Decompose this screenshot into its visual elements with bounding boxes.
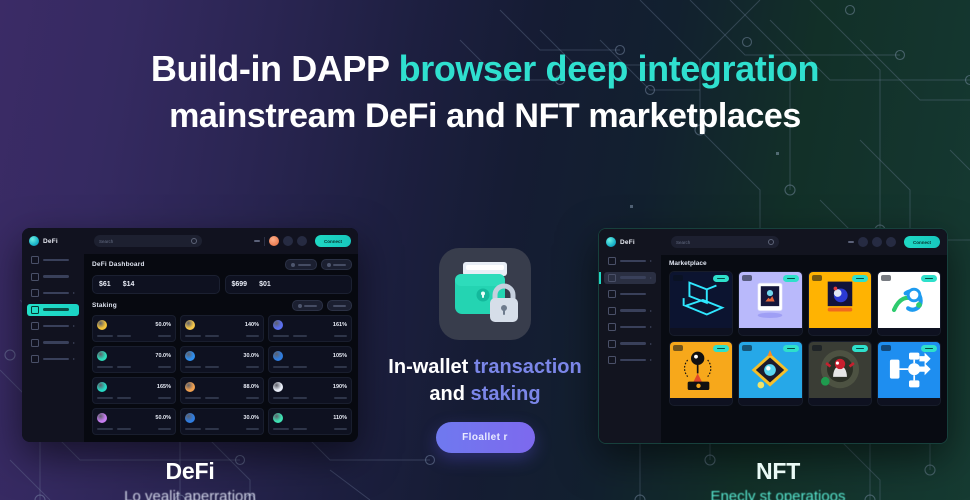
menu-item-icon bbox=[608, 274, 616, 282]
menu-icon[interactable] bbox=[254, 240, 260, 242]
staking-card-meta bbox=[97, 397, 171, 399]
staking-card[interactable]: 70.0% bbox=[92, 346, 176, 373]
bell-icon[interactable] bbox=[858, 237, 868, 247]
nft-artwork bbox=[878, 272, 940, 328]
search-icon bbox=[191, 238, 197, 244]
nft-card[interactable] bbox=[669, 271, 733, 336]
search-icon bbox=[768, 239, 774, 245]
staking-card-meta bbox=[185, 428, 259, 430]
menu-item-icon bbox=[608, 340, 616, 348]
defi-stats: $61$14$699$01 bbox=[92, 275, 352, 294]
sidebar-item-label bbox=[620, 359, 646, 362]
nft-app-screenshot[interactable]: Marketplace DeFi Search Connect bbox=[598, 228, 948, 444]
stat-value: $61 bbox=[99, 281, 111, 288]
nft-card[interactable] bbox=[738, 271, 802, 336]
menu-item-icon bbox=[31, 273, 39, 281]
center-headline: In-wallet transaction and staking bbox=[370, 354, 600, 408]
divider bbox=[264, 237, 265, 246]
nft-chain-tag bbox=[673, 275, 683, 281]
sidebar-item-label bbox=[620, 342, 646, 345]
sidebar-item-dashboard[interactable] bbox=[27, 254, 79, 266]
nft-card[interactable] bbox=[877, 341, 941, 406]
staking-card[interactable]: 30.0% bbox=[180, 346, 264, 373]
headline: Build-in DAPP browser deep integration m… bbox=[0, 48, 970, 137]
coin-icon bbox=[185, 320, 195, 330]
defi-staking-row: Staking bbox=[92, 300, 352, 311]
staking-apy: 50.0% bbox=[155, 415, 171, 421]
nft-chain-tag bbox=[812, 345, 822, 351]
sidebar-item-transfer[interactable] bbox=[604, 354, 656, 366]
headline-part-a: Build-in DAPP bbox=[151, 48, 399, 89]
user-icon[interactable] bbox=[886, 237, 896, 247]
sidebar-item-collections[interactable] bbox=[604, 321, 656, 333]
nft-card[interactable] bbox=[877, 271, 941, 336]
nft-connect-label: Connect bbox=[913, 240, 931, 245]
staking-card-meta bbox=[273, 366, 347, 368]
defi-app-screenshot[interactable]: DeFi Dashboard $61$14$699$01 Staking 50.… bbox=[22, 228, 358, 442]
nft-meta bbox=[809, 398, 871, 405]
logo-mark-icon bbox=[29, 236, 39, 246]
chevron-down-icon bbox=[650, 326, 652, 328]
stat-item: $699 bbox=[232, 281, 248, 288]
defi-staking-title: Staking bbox=[92, 302, 117, 309]
nft-meta bbox=[670, 398, 732, 405]
center-text-b: transaction bbox=[474, 356, 582, 378]
gear-icon[interactable] bbox=[872, 237, 882, 247]
staking-apy: 140% bbox=[245, 322, 259, 328]
coin-icon bbox=[185, 351, 195, 361]
defi-content: DeFi Dashboard $61$14$699$01 Staking 50.… bbox=[92, 259, 352, 438]
stat-value: $01 bbox=[259, 281, 271, 288]
sidebar-item-label bbox=[43, 275, 69, 278]
staking-card[interactable]: 50.0% bbox=[92, 315, 176, 342]
defi-sidebar[interactable] bbox=[22, 228, 84, 442]
chevron-down-icon bbox=[73, 358, 75, 360]
staking-card[interactable]: 190% bbox=[268, 377, 352, 404]
stat-item: $61 bbox=[99, 281, 111, 288]
nft-chain-tag bbox=[673, 345, 683, 351]
defi-connect-pill[interactable] bbox=[285, 259, 317, 270]
sidebar-item-label bbox=[43, 259, 69, 262]
sidebar-item-label bbox=[43, 292, 69, 295]
nft-topbar: DeFi Search Connect bbox=[599, 229, 947, 255]
stat-box: $61$14 bbox=[92, 275, 220, 294]
coin-icon bbox=[185, 413, 195, 423]
nft-meta bbox=[670, 328, 732, 335]
nft-meta bbox=[739, 328, 801, 335]
sidebar-item-label bbox=[43, 358, 69, 361]
staking-apy: 88.0% bbox=[243, 384, 259, 390]
center-text-d: staking bbox=[471, 383, 541, 405]
menu-item-icon bbox=[608, 323, 616, 331]
nft-main: Marketplace bbox=[661, 229, 947, 443]
coin-icon bbox=[185, 382, 195, 392]
coin-icon bbox=[273, 413, 283, 423]
menu-item-icon bbox=[31, 339, 39, 347]
nft-buy-badge[interactable] bbox=[852, 345, 868, 352]
nft-artwork bbox=[809, 272, 871, 328]
staking-card[interactable]: 140% bbox=[180, 315, 264, 342]
wallet-lock-icon bbox=[439, 248, 531, 340]
stat-value: $699 bbox=[232, 281, 248, 288]
staking-apy: 30.0% bbox=[243, 353, 259, 359]
chevron-down-icon bbox=[650, 277, 652, 279]
headline-part-c: deep integration bbox=[545, 48, 819, 89]
menu-item-icon bbox=[31, 289, 39, 297]
nft-meta bbox=[809, 328, 871, 335]
sidebar-item-label bbox=[43, 341, 69, 344]
defi-manage-pill[interactable] bbox=[327, 300, 352, 311]
sidebar-item-marketplace[interactable] bbox=[27, 320, 79, 332]
staking-card[interactable]: 105% bbox=[268, 346, 352, 373]
nft-meta bbox=[739, 398, 801, 405]
defi-network-pill[interactable] bbox=[321, 259, 353, 270]
center-text-a: In-wallet bbox=[388, 356, 474, 378]
menu-item-icon bbox=[31, 355, 39, 363]
defi-main: DeFi Dashboard $61$14$699$01 Staking 50.… bbox=[84, 228, 358, 442]
promo-banner: Build-in DAPP browser deep integration m… bbox=[0, 0, 970, 500]
nft-section-title: Marketplace bbox=[669, 260, 941, 267]
sidebar-item-label bbox=[620, 276, 646, 279]
stat-item: $01 bbox=[259, 281, 271, 288]
headline-line-2: mainstream DeFi and NFT marketplaces bbox=[0, 96, 970, 136]
coin-icon bbox=[273, 351, 283, 361]
center-text-c: and bbox=[429, 383, 470, 405]
staking-apy: 105% bbox=[333, 353, 347, 359]
staking-apy: 161% bbox=[333, 322, 347, 328]
staking-card[interactable]: 88.0% bbox=[180, 377, 264, 404]
coin-icon bbox=[97, 320, 107, 330]
menu-item-icon bbox=[31, 256, 39, 264]
nft-buy-badge[interactable] bbox=[713, 345, 729, 352]
defi-staking-grid: 50.0%140%161%70.0%30.0%105%165%88.0%190%… bbox=[92, 315, 352, 435]
nft-artwork bbox=[878, 342, 940, 398]
sidebar-item-marketplace[interactable] bbox=[604, 272, 656, 284]
coin-icon bbox=[97, 382, 107, 392]
stat-value: $14 bbox=[123, 281, 135, 288]
staking-card-meta bbox=[97, 335, 171, 337]
chevron-down-icon bbox=[650, 310, 652, 312]
sidebar-item-transfer[interactable] bbox=[27, 353, 79, 365]
sidebar-item-my-stash[interactable] bbox=[27, 337, 79, 349]
chevron-down-icon bbox=[650, 343, 652, 345]
menu-item-icon bbox=[608, 290, 616, 298]
caption-nft-title: NFT bbox=[648, 458, 908, 485]
defi-header-row: DeFi Dashboard bbox=[92, 259, 352, 270]
staking-card-meta bbox=[185, 335, 259, 337]
headline-part-b: browser bbox=[399, 48, 546, 89]
caption-defi-subtitle: Lo vealit aperratiom bbox=[60, 488, 320, 500]
nft-sidebar[interactable] bbox=[599, 229, 661, 443]
staking-card[interactable]: 50.0% bbox=[92, 408, 176, 435]
sidebar-item-activity[interactable] bbox=[604, 288, 656, 300]
nft-card[interactable] bbox=[808, 341, 872, 406]
chevron-down-icon bbox=[650, 359, 652, 361]
nft-card[interactable] bbox=[808, 271, 872, 336]
caption-nft: NFT Enecly st operatioos bbox=[648, 458, 908, 500]
wallet-cta-label: Floallet r bbox=[462, 432, 508, 443]
defi-search-input[interactable]: Search bbox=[94, 235, 202, 247]
sidebar-item-stake[interactable] bbox=[27, 287, 79, 299]
defi-staking-buttons[interactable] bbox=[292, 300, 353, 311]
nft-buy-badge[interactable] bbox=[713, 275, 729, 282]
staking-apy: 70.0% bbox=[155, 353, 171, 359]
nft-artwork bbox=[739, 342, 801, 398]
sidebar-item-label bbox=[620, 326, 646, 329]
logo-mark-icon bbox=[606, 237, 616, 247]
defi-search-placeholder: Search bbox=[99, 239, 113, 244]
staking-card[interactable]: 161% bbox=[268, 315, 352, 342]
caption-defi-title: DeFi bbox=[60, 458, 320, 485]
stat-item: $14 bbox=[123, 281, 135, 288]
menu-item-icon bbox=[608, 307, 616, 315]
defi-logo-text: DeFi bbox=[43, 238, 58, 245]
chevron-down-icon bbox=[73, 292, 75, 294]
staking-card-meta bbox=[273, 397, 347, 399]
defi-connect-label: Connect bbox=[324, 239, 342, 244]
defi-create-pill[interactable] bbox=[292, 300, 324, 311]
sidebar-item-discover[interactable] bbox=[604, 255, 656, 267]
staking-card-meta bbox=[97, 366, 171, 368]
nft-artwork bbox=[809, 342, 871, 398]
nft-logo-text: DeFi bbox=[620, 239, 635, 246]
coin-icon bbox=[97, 413, 107, 423]
sidebar-item-dashboard[interactable] bbox=[27, 304, 79, 316]
staking-card[interactable]: 165% bbox=[92, 377, 176, 404]
chevron-down-icon bbox=[73, 325, 75, 327]
defi-topbar: DeFi Search Connect bbox=[22, 228, 358, 254]
sidebar-item-label bbox=[43, 325, 69, 328]
nft-artwork bbox=[739, 272, 801, 328]
nft-connect-button[interactable]: Connect bbox=[904, 236, 940, 248]
caption-nft-subtitle: Enecly st operatioos bbox=[648, 488, 908, 500]
nft-chain-tag bbox=[881, 345, 891, 351]
sidebar-item-label bbox=[43, 308, 69, 311]
staking-card[interactable]: 30.0% bbox=[180, 408, 264, 435]
coin-icon bbox=[97, 351, 107, 361]
staking-apy: 50.0% bbox=[155, 322, 171, 328]
nft-search-placeholder: Search bbox=[676, 240, 690, 245]
chevron-down-icon bbox=[73, 342, 75, 344]
nft-card[interactable] bbox=[738, 341, 802, 406]
staking-card-meta bbox=[97, 428, 171, 430]
menu-item-icon bbox=[31, 322, 39, 330]
chevron-down-icon bbox=[650, 260, 652, 262]
staking-apy: 190% bbox=[333, 384, 347, 390]
nft-chain-tag bbox=[742, 275, 752, 281]
staking-card-meta bbox=[273, 428, 347, 430]
nft-artwork bbox=[670, 342, 732, 398]
sidebar-item-label bbox=[620, 260, 646, 263]
menu-item-icon bbox=[31, 306, 39, 314]
staking-card-meta bbox=[185, 366, 259, 368]
menu-item-icon bbox=[608, 356, 616, 364]
sidebar-item-my-stash[interactable] bbox=[604, 338, 656, 350]
sidebar-item-label bbox=[620, 293, 646, 296]
nft-chain-tag bbox=[881, 275, 891, 281]
nft-artwork bbox=[670, 272, 732, 328]
coin-icon bbox=[273, 320, 283, 330]
sidebar-item-label bbox=[620, 309, 646, 312]
defi-header-buttons[interactable] bbox=[285, 259, 352, 270]
defi-connect-button[interactable]: Connect bbox=[315, 235, 351, 247]
nft-logo[interactable]: DeFi bbox=[606, 237, 661, 247]
bell-icon[interactable] bbox=[283, 236, 293, 246]
nft-buy-badge[interactable] bbox=[783, 275, 799, 282]
nft-buy-badge[interactable] bbox=[921, 275, 937, 282]
menu-icon[interactable] bbox=[848, 241, 854, 243]
staking-card-meta bbox=[273, 335, 347, 337]
staking-apy: 30.0% bbox=[243, 415, 259, 421]
gear-icon[interactable] bbox=[297, 236, 307, 246]
headline-line-1: Build-in DAPP browser deep integration bbox=[0, 48, 970, 90]
wallet-cta-button[interactable]: Floallet r bbox=[436, 422, 535, 453]
menu-item-icon bbox=[608, 257, 616, 265]
coin-icon bbox=[273, 382, 283, 392]
staking-card-meta bbox=[185, 397, 259, 399]
nft-buy-badge[interactable] bbox=[921, 345, 937, 352]
defi-section-title: DeFi Dashboard bbox=[92, 261, 145, 268]
staking-card[interactable]: 110% bbox=[268, 408, 352, 435]
sidebar-item-marketplace[interactable] bbox=[604, 305, 656, 317]
nft-meta bbox=[878, 398, 940, 405]
nft-toolbar[interactable]: Connect bbox=[848, 236, 940, 248]
center-feature: In-wallet transaction and staking Floall… bbox=[370, 248, 600, 453]
stat-box: $699$01 bbox=[225, 275, 353, 294]
nft-meta bbox=[878, 328, 940, 335]
avatar[interactable] bbox=[269, 236, 279, 246]
staking-apy: 165% bbox=[157, 384, 171, 390]
nft-buy-badge[interactable] bbox=[852, 275, 868, 282]
nft-search-input[interactable]: Search bbox=[671, 236, 779, 248]
sidebar-item-discover[interactable] bbox=[27, 271, 79, 283]
defi-logo[interactable]: DeFi bbox=[29, 236, 84, 246]
nft-chain-tag bbox=[812, 275, 822, 281]
nft-chain-tag bbox=[742, 345, 752, 351]
nft-card[interactable] bbox=[669, 341, 733, 406]
defi-toolbar[interactable]: Connect bbox=[254, 235, 351, 247]
caption-defi: DeFi Lo vealit aperratiom bbox=[60, 458, 320, 500]
nft-content: Marketplace bbox=[669, 260, 941, 439]
nft-card-grid bbox=[669, 271, 941, 406]
nft-buy-badge[interactable] bbox=[783, 345, 799, 352]
staking-apy: 110% bbox=[333, 415, 347, 421]
